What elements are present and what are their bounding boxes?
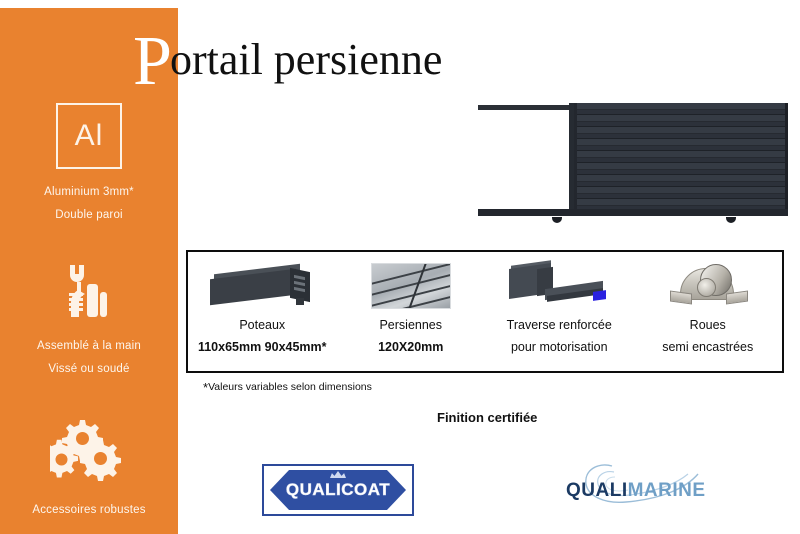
qualimarine-text-secondary: MARINE (628, 480, 706, 501)
qualicoat-crown-icon (330, 471, 346, 478)
component-roues-title: Roues (690, 318, 726, 334)
qualicoat-logo: QUALICOAT (262, 464, 414, 516)
gears-icon-wrap (0, 416, 178, 486)
components-row: Poteaux 110x65mm 90x45mm* Persiennes (188, 252, 782, 371)
persienne-lame-image (371, 260, 451, 312)
feature-assemblage-label-2: Vissé ou soudé (0, 363, 178, 375)
poteau-shape (210, 265, 314, 307)
page-title-dropcap: P (133, 23, 172, 100)
footnote-text: Valeurs variables selon dimensions (208, 381, 372, 393)
gate-wheel-right (726, 217, 736, 223)
qualimarine-logo-text: QUALIMARINE (566, 480, 706, 502)
qualicoat-diamond: QUALICOAT (270, 470, 406, 510)
hand-wrench-icon (59, 262, 119, 322)
feature-assemblage: Assemblé à la main Vissé ou soudé (0, 260, 178, 375)
qualicoat-logo-text: QUALICOAT (286, 480, 390, 500)
footnote: *Valeurs variables selon dimensions (203, 381, 372, 394)
feature-aluminium-label-1: Aluminium 3mm* (0, 186, 178, 198)
page-title-rest: ortail persienne (170, 35, 442, 84)
gate-wheel-left (552, 217, 562, 223)
roue-semi-encastree-image (670, 260, 746, 312)
datasheet-page: Al Aluminium 3mm* Double paroi (0, 0, 800, 534)
qualimarine-logo: QUALIMARINE (556, 468, 726, 514)
component-poteaux-title: Poteaux (239, 318, 285, 334)
component-traverse-title: Traverse renforcée (507, 318, 612, 334)
component-roues: Roues semi encastrées (634, 252, 783, 371)
component-persiennes-sub: 120X20mm (378, 340, 443, 356)
components-box: Poteaux 110x65mm 90x45mm* Persiennes (186, 250, 784, 373)
persienne-shape (371, 263, 451, 309)
portail-persienne-photo (478, 103, 788, 220)
gears-icon (50, 418, 128, 484)
aluminium-square-icon-wrap: Al (0, 104, 178, 168)
feature-accessoires: Accessoires robustes (0, 416, 178, 516)
traverse-blue-tip (593, 290, 606, 301)
component-roues-sub: semi encastrées (662, 340, 753, 356)
gate-frame (478, 103, 788, 220)
gate-bottom-rail (478, 209, 788, 216)
aluminium-square-icon: Al (56, 103, 122, 169)
qualimarine-text-primary: QUALI (566, 480, 628, 501)
component-poteaux-sub: 110x65mm 90x45mm* (198, 340, 327, 356)
roue-foot-left (670, 290, 692, 304)
roue-hub (697, 278, 716, 297)
gate-louver-panel (574, 103, 788, 210)
poteau-aluminium-image (210, 260, 314, 312)
component-poteaux: Poteaux 110x65mm 90x45mm* (188, 252, 337, 371)
component-persiennes: Persiennes 120X20mm (337, 252, 486, 371)
gate-top-rail (478, 105, 571, 110)
certification-heading: Finition certifiée (437, 410, 537, 425)
page-title: Portail persienne (133, 26, 442, 84)
hand-wrench-icon-wrap (0, 260, 178, 324)
component-traverse-sub: pour motorisation (511, 340, 608, 356)
feature-accessoires-label-1: Accessoires robustes (0, 504, 178, 516)
traverse-motorisation-image (505, 260, 613, 312)
feature-aluminium: Al Aluminium 3mm* Double paroi (0, 104, 178, 221)
component-traverse: Traverse renforcée pour motorisation (485, 252, 634, 371)
feature-assemblage-label-1: Assemblé à la main (0, 340, 178, 352)
traverse-shape (505, 263, 613, 309)
roue-shape (670, 264, 746, 308)
feature-aluminium-label-2: Double paroi (0, 209, 178, 221)
roue-foot-right (726, 290, 748, 304)
component-persiennes-title: Persiennes (379, 318, 442, 334)
poteau-tab (296, 298, 304, 305)
